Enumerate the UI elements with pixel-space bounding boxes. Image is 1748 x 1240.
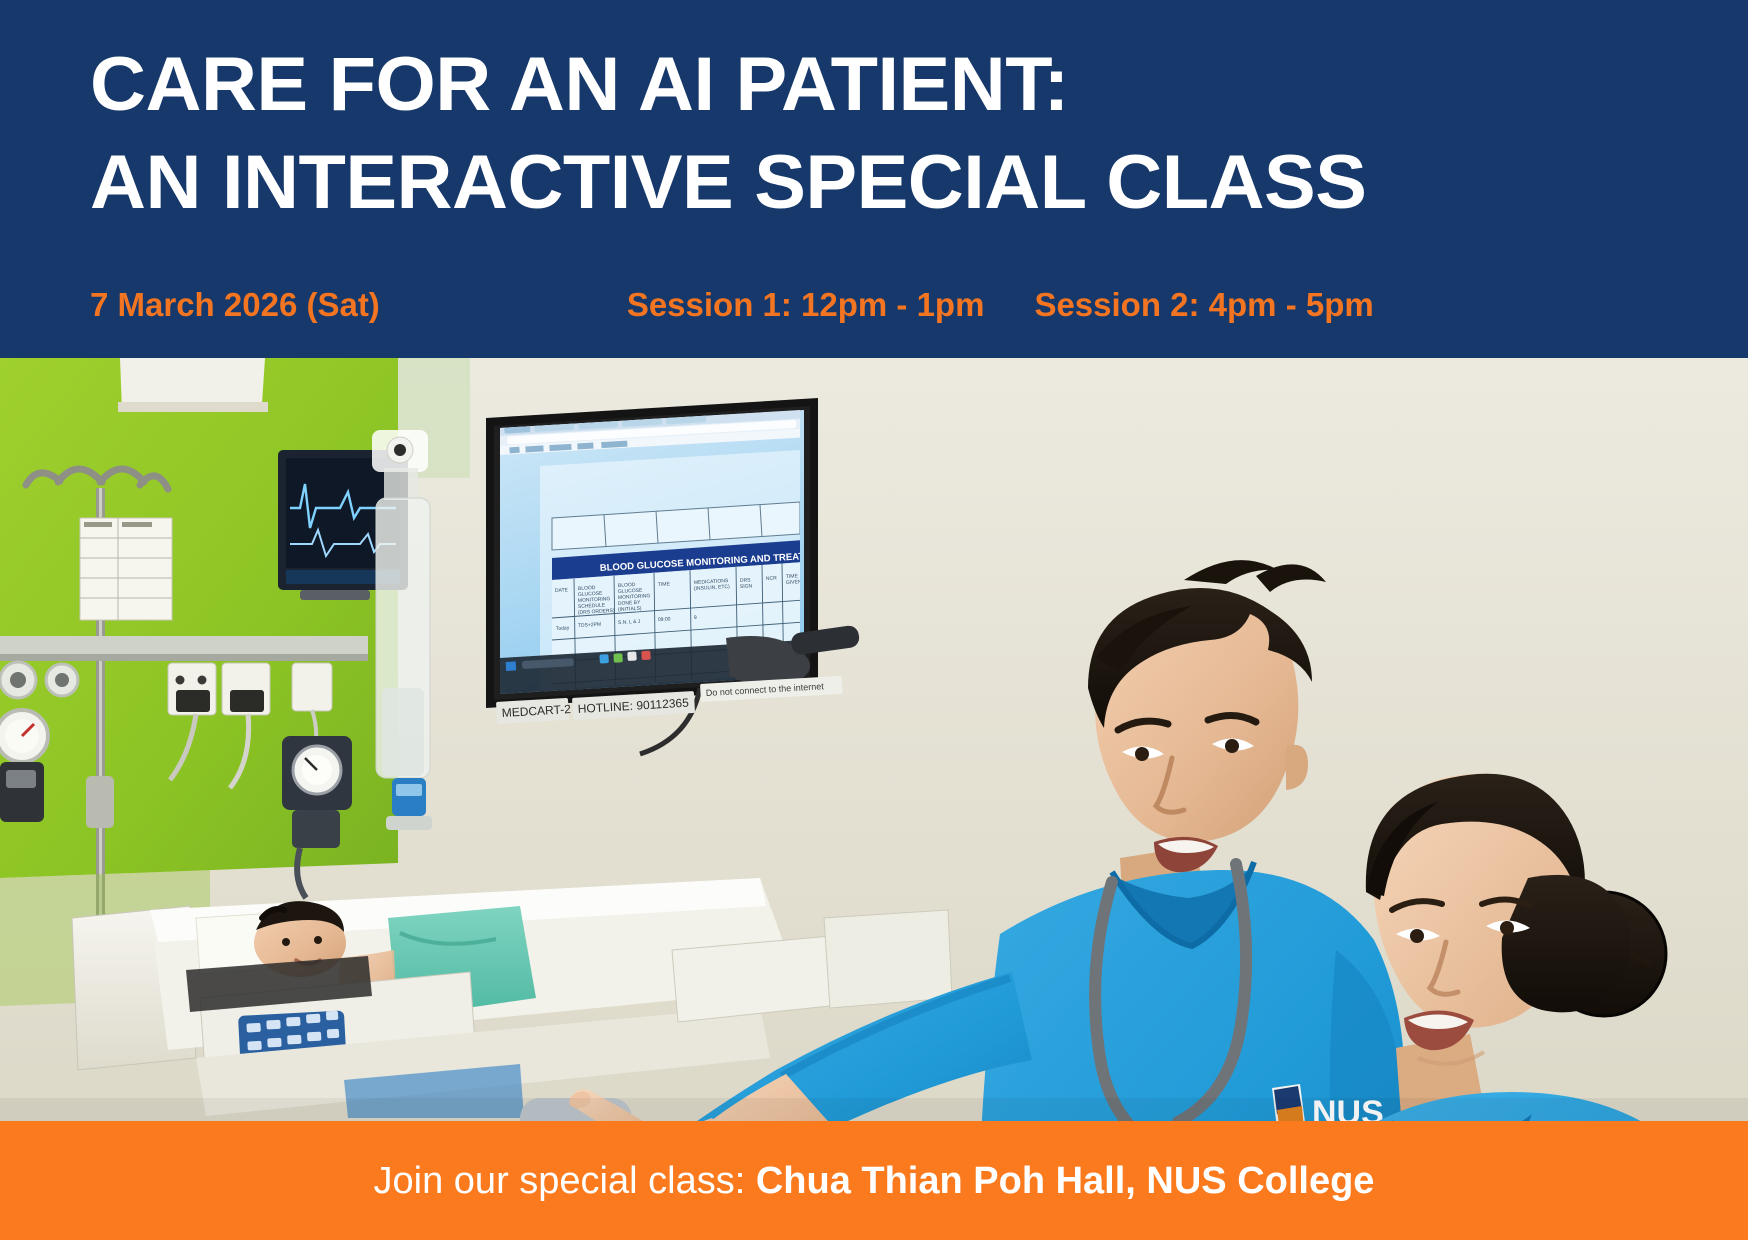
- event-meta-row: 7 March 2026 (Sat) Session 1: 12pm - 1pm…: [90, 286, 1700, 324]
- page-title: CARE FOR AN AI PATIENT: AN INTERACTIVE S…: [90, 36, 1690, 232]
- hospital-scene-illustration: BLOOD GLUCOSE MONITORING AND TREATMENT: [0, 358, 1748, 1121]
- wall-chart: [80, 518, 172, 620]
- event-session-2: Session 2: 4pm - 5pm: [1034, 286, 1373, 324]
- poster-root: CARE FOR AN AI PATIENT: AN INTERACTIVE S…: [0, 0, 1748, 1240]
- event-session-1: Session 1: 12pm - 1pm: [627, 286, 985, 324]
- svg-text:SIGN: SIGN: [740, 583, 753, 590]
- hero-photo: BLOOD GLUCOSE MONITORING AND TREATMENT: [0, 358, 1748, 1121]
- title-line-2: AN INTERACTIVE SPECIAL CLASS: [90, 134, 1722, 232]
- footer-cta: Join our special class: Chua Thian Poh H…: [374, 1159, 1375, 1203]
- footer-venue: Chua Thian Poh Hall, NUS College: [756, 1160, 1375, 1202]
- svg-text:DATE: DATE: [555, 587, 569, 594]
- event-date: 7 March 2026 (Sat): [90, 286, 380, 324]
- svg-text:Today: Today: [556, 625, 570, 632]
- poster-header: CARE FOR AN AI PATIENT: AN INTERACTIVE S…: [0, 0, 1748, 358]
- svg-text:GIVEN: GIVEN: [786, 579, 802, 586]
- svg-text:NCR: NCR: [766, 575, 778, 582]
- poster-footer: Join our special class: Chua Thian Poh H…: [0, 1121, 1748, 1240]
- svg-text:09:00: 09:00: [658, 616, 671, 623]
- footer-lead: Join our special class:: [374, 1160, 756, 1202]
- svg-text:TIME: TIME: [658, 581, 671, 588]
- title-line-1: CARE FOR AN AI PATIENT:: [90, 36, 1722, 134]
